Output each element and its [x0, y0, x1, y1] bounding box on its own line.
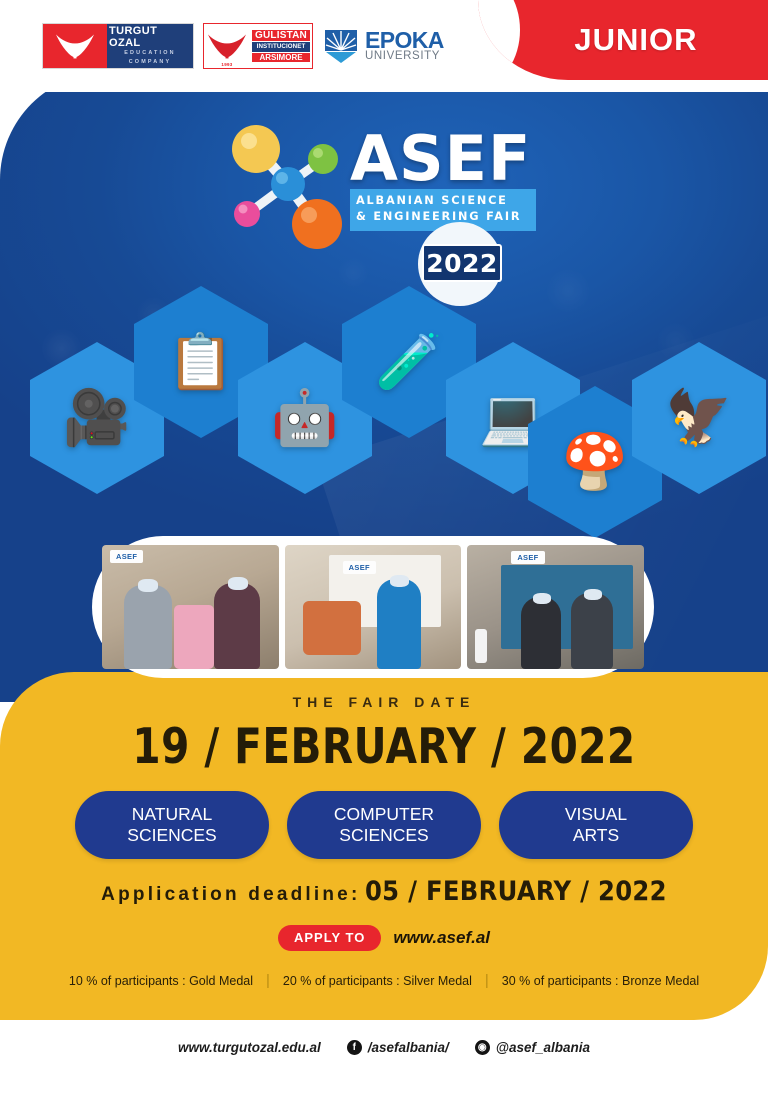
photo-2-asef-sign: ASEF — [343, 561, 376, 574]
asef-wordmark: ASEF ALBANIAN SCIENCE & ENGINEERING FAIR — [350, 130, 542, 231]
photo-1-project-model — [174, 605, 214, 669]
gulistan-line-2: ARSIMORE — [252, 53, 310, 62]
documents-stationery-icon: 📋 — [167, 335, 234, 389]
gulistan-title: GÜLISTAN — [252, 30, 310, 42]
medal-silver: 20 % of participants : Silver Medal — [283, 974, 472, 988]
gulistan-tulip-icon — [206, 31, 248, 59]
apply-to-badge[interactable]: APPLY TO — [278, 925, 381, 951]
footer-website-text: www.turgutozal.edu.al — [178, 1040, 321, 1055]
tulip-icon — [54, 31, 96, 59]
photo-3: ASEF — [467, 545, 644, 669]
footer-website[interactable]: www.turgutozal.edu.al — [178, 1040, 321, 1055]
footer-instagram-text: @asef_albania — [496, 1040, 590, 1055]
turgut-ozal-line-2: COMPANY — [129, 58, 172, 66]
photo-2-anatomy-model — [303, 601, 361, 655]
pill-computer-sciences[interactable]: COMPUTER SCIENCES — [287, 791, 481, 859]
robot-icon: 🤖 — [271, 391, 338, 445]
photo-1-mask-left — [138, 579, 158, 592]
photo-3-bottle — [475, 629, 487, 663]
gulistan-logo-mark: 1993 — [204, 24, 250, 68]
photo-1: ASEF — [102, 545, 279, 669]
turgut-ozal-logo: TURGUT OZAL EDUCATION COMPANY — [42, 23, 194, 69]
pill-natural-sciences[interactable]: NATURAL SCIENCES — [75, 791, 269, 859]
category-hexagon-row: 🎥 📋 🤖 🧪 💻 🍄 🦅 — [0, 290, 768, 520]
eagle-bird-icon: 🦅 — [665, 391, 732, 445]
photo-2: ASEF — [285, 545, 462, 669]
asef-subtitle-line-1: ALBANIAN SCIENCE — [356, 193, 530, 209]
gulistan-founding-year: 1993 — [221, 62, 232, 67]
pill-computer-sciences-line-2: SCIENCES — [339, 825, 428, 846]
lab-flask-microscope-icon: 🧪 — [375, 335, 442, 389]
fair-date-value: 19 / FEBRUARY / 2022 — [31, 718, 738, 775]
turgut-ozal-logo-text: TURGUT OZAL EDUCATION COMPANY — [107, 24, 193, 68]
application-deadline: Application deadline: 05 / FEBRUARY / 20… — [0, 876, 768, 907]
asef-acronym: ASEF — [350, 130, 542, 187]
photo-1-person-left — [124, 585, 172, 669]
gulistan-line-1: INSTITUCIONET — [252, 42, 310, 52]
photo-3-asef-label: ASEF — [517, 553, 538, 562]
medal-separator-1: | — [266, 972, 270, 989]
fair-date-label: THE FAIR DATE — [0, 694, 768, 710]
asef-junior-poster: ASEF ALBANIAN SCIENCE & ENGINEERING FAIR… — [0, 0, 768, 1097]
plants-mushrooms-icon: 🍄 — [561, 435, 628, 489]
apply-url-link[interactable]: www.asef.al — [393, 928, 490, 948]
pill-visual-arts-line-1: VISUAL — [565, 804, 627, 825]
photo-3-person-left — [521, 597, 561, 669]
epoka-line-1: UNIVERSITY — [365, 51, 444, 62]
medal-distribution: 10 % of participants : Gold Medal | 20 %… — [0, 972, 768, 989]
footer-facebook[interactable]: f /asefalbania/ — [347, 1040, 449, 1055]
turgut-ozal-logo-mark — [43, 24, 107, 68]
pill-visual-arts-line-2: ARTS — [573, 825, 619, 846]
photo-1-asef-sign: ASEF — [110, 550, 143, 563]
gulistan-logo: 1993 GÜLISTAN INSTITUCIONET ARSIMORE — [203, 23, 313, 69]
facebook-icon: f — [347, 1040, 362, 1055]
pill-computer-sciences-line-1: COMPUTER — [334, 804, 434, 825]
junior-badge-label: JUNIOR — [478, 0, 768, 80]
photo-3-asef-sign: ASEF — [511, 551, 544, 564]
epoka-title: EPOKA — [365, 30, 444, 52]
footer-contacts: www.turgutozal.edu.al f /asefalbania/ ◉ … — [0, 1040, 768, 1055]
footer-facebook-text: /asefalbania/ — [368, 1040, 449, 1055]
turgut-ozal-line-1: EDUCATION — [124, 49, 175, 57]
application-deadline-label: Application deadline: — [101, 884, 360, 905]
apply-row: APPLY TO www.asef.al — [0, 925, 768, 951]
epoka-logo-mark — [322, 26, 360, 66]
medal-bronze: 30 % of participants : Bronze Medal — [502, 974, 699, 988]
photo-strip: ASEF ASEF ASEF — [92, 536, 654, 678]
epoka-logo: EPOKA UNIVERSITY — [322, 23, 457, 69]
film-camera-icon: 🎥 — [63, 391, 130, 445]
photo-1-mask-right — [228, 577, 248, 590]
footer-instagram[interactable]: ◉ @asef_albania — [475, 1040, 590, 1055]
asef-subtitle-line-2: & ENGINEERING FAIR — [356, 209, 530, 225]
asef-logo: ASEF ALBANIAN SCIENCE & ENGINEERING FAIR… — [222, 112, 542, 292]
sponsor-logo-row: TURGUT OZAL EDUCATION COMPANY 1993 GÜLIS… — [42, 22, 457, 70]
medal-gold: 10 % of participants : Gold Medal — [69, 974, 253, 988]
photo-2-person — [377, 579, 421, 669]
photo-2-mask — [390, 575, 409, 587]
application-deadline-value: 05 / FEBRUARY / 2022 — [365, 876, 667, 907]
pill-visual-arts[interactable]: VISUAL ARTS — [499, 791, 693, 859]
photo-3-mask-right — [584, 589, 602, 600]
epoka-logo-text: EPOKA UNIVERSITY — [365, 30, 444, 63]
asef-year: 2022 — [422, 244, 502, 282]
photo-3-mask-left — [533, 593, 551, 604]
instagram-icon: ◉ — [475, 1040, 490, 1055]
medal-separator-2: | — [485, 972, 489, 989]
pill-natural-sciences-line-2: SCIENCES — [127, 825, 216, 846]
photo-2-asef-label: ASEF — [349, 563, 370, 572]
epoka-book-sunburst-icon — [322, 26, 360, 66]
photo-1-asef-label: ASEF — [116, 552, 137, 561]
photo-3-person-right — [571, 593, 613, 669]
pill-natural-sciences-line-1: NATURAL — [132, 804, 212, 825]
category-pill-row: NATURAL SCIENCES COMPUTER SCIENCES VISUA… — [0, 791, 768, 859]
molecule-icon — [222, 116, 344, 266]
gulistan-logo-text: GÜLISTAN INSTITUCIONET ARSIMORE — [250, 24, 312, 68]
turgut-ozal-title: TURGUT OZAL — [109, 26, 191, 49]
photo-1-person-right — [214, 583, 260, 669]
